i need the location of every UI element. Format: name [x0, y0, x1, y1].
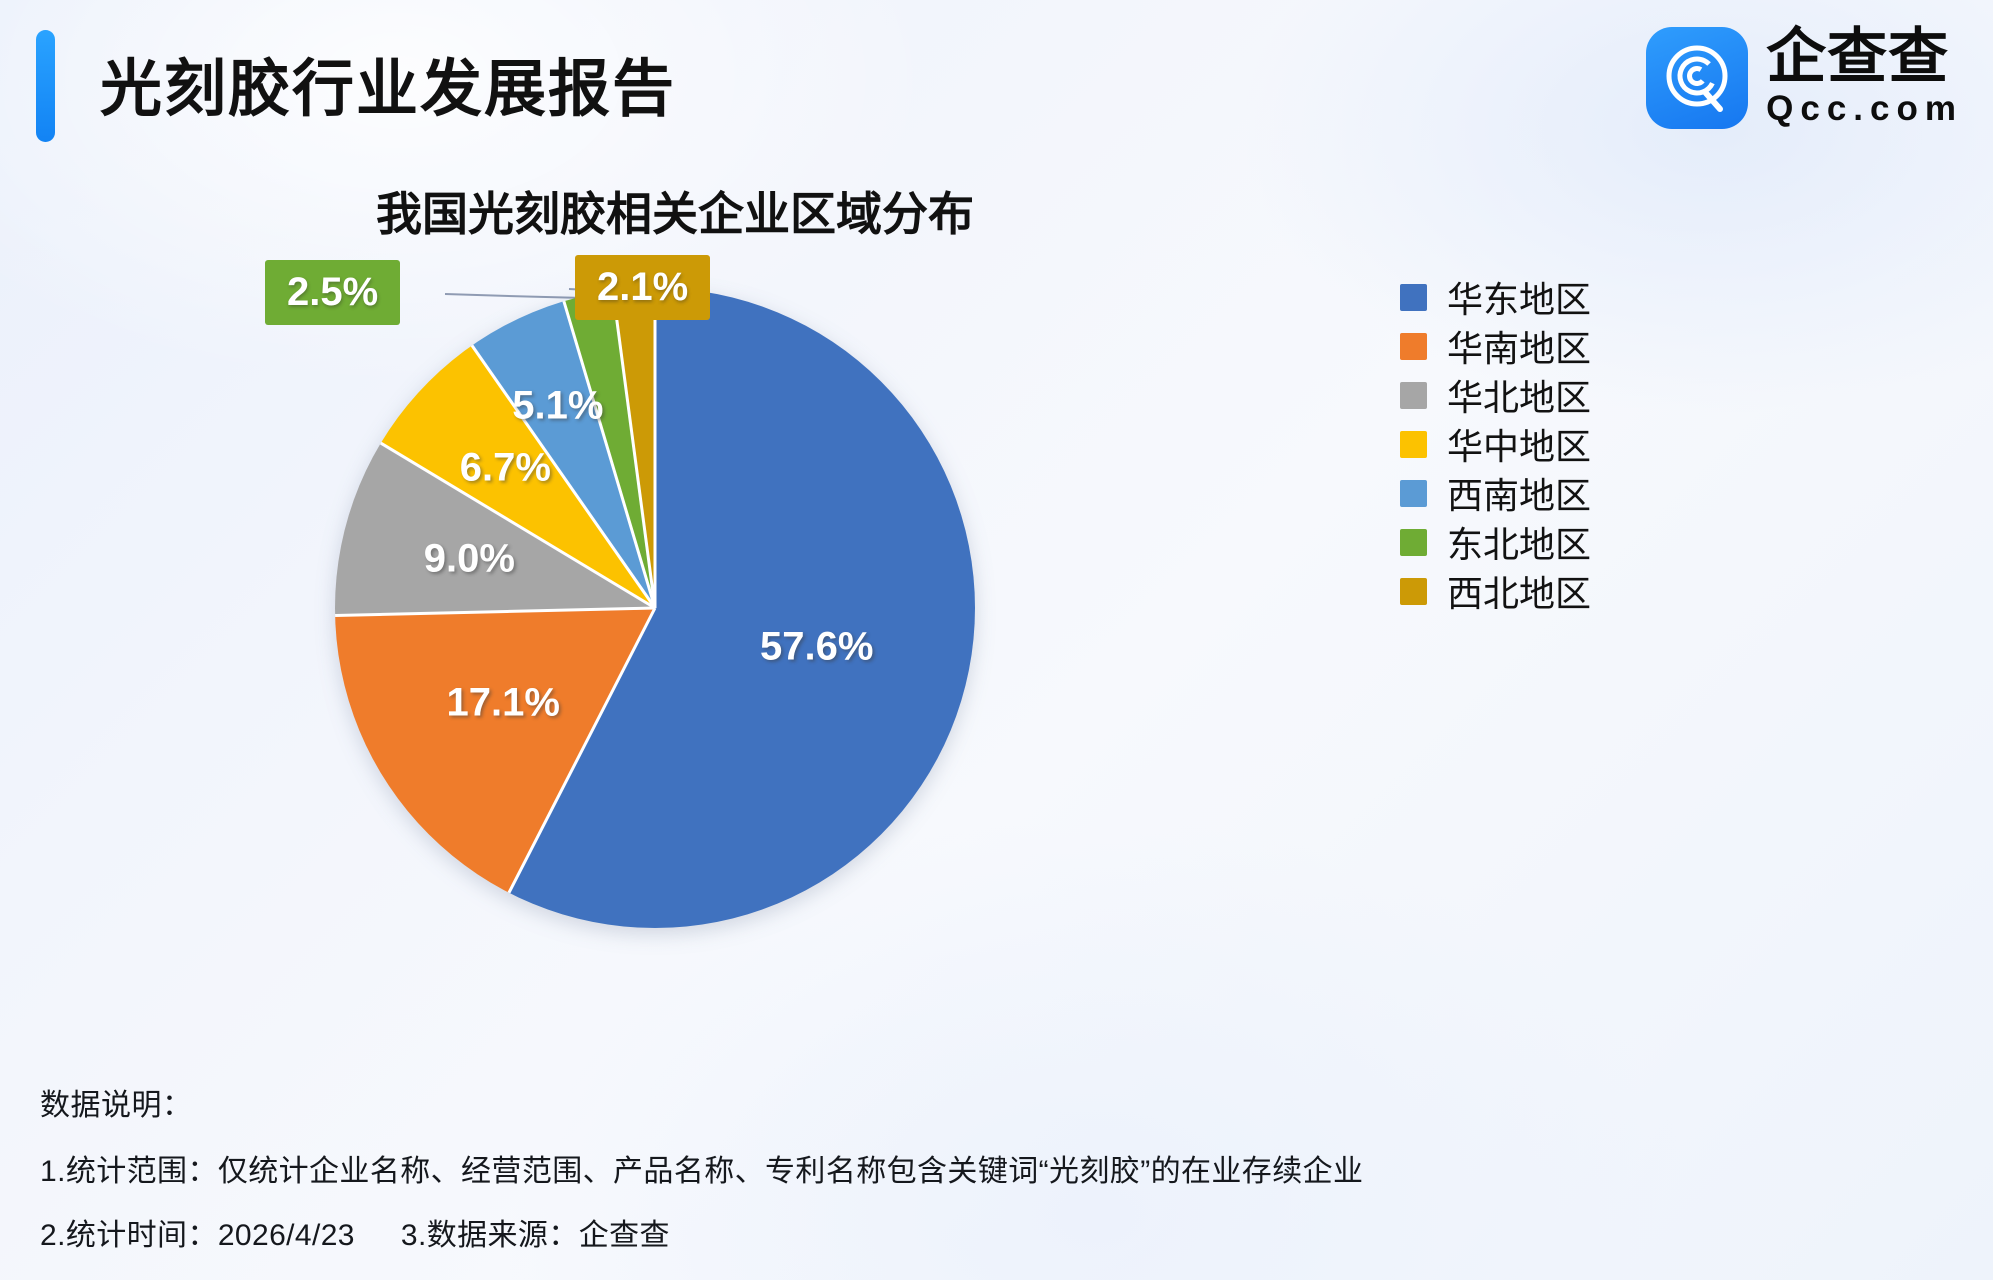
legend-item[interactable]: 华南地区 [1400, 327, 1591, 365]
legend-item[interactable]: 华北地区 [1400, 376, 1591, 414]
brand-logo: 企查查 Qcc.com [1646, 26, 1963, 129]
legend-item-label: 西南地区 [1447, 467, 1591, 519]
pie-slice-label: 57.6% [760, 625, 873, 670]
legend-item[interactable]: 西北地区 [1400, 572, 1591, 610]
qcc-logo-icon [1646, 27, 1748, 129]
page-header: 光刻胶行业发展报告 企查查 Qcc.com [0, 0, 1993, 170]
legend-item[interactable]: 东北地区 [1400, 523, 1591, 561]
pie-slice-label: 6.7% [460, 446, 551, 491]
legend-item-label: 西北地区 [1447, 565, 1591, 617]
brand-name-en: Qcc.com [1766, 89, 1963, 129]
legend-item-label: 东北地区 [1447, 516, 1591, 568]
pie-callout-label: 2.5% [265, 260, 400, 325]
pie-slice-divider [654, 288, 657, 608]
legend-item-label: 华北地区 [1447, 369, 1591, 421]
legend-item-label: 华南地区 [1447, 320, 1591, 372]
notes-line-time-source: 2.统计时间：2026/4/233.数据来源：企查查 [40, 1210, 1740, 1254]
pie-callout-label: 2.1% [575, 255, 710, 320]
notes-heading: 数据说明： [40, 1080, 1740, 1124]
chart-legend: 华东地区华南地区华北地区华中地区西南地区东北地区西北地区 [1400, 278, 1591, 610]
legend-item[interactable]: 华中地区 [1400, 425, 1591, 463]
legend-item-label: 华东地区 [1447, 271, 1591, 323]
legend-item[interactable]: 西南地区 [1400, 474, 1591, 512]
notes-stat-time: 2.统计时间：2026/4/23 [40, 1219, 355, 1252]
callout-leader-line [445, 294, 589, 298]
brand-name-cn: 企查查 [1766, 26, 1949, 87]
data-notes: 数据说明： 1.统计范围：仅统计企业名称、经营范围、产品名称、专利名称包含关键词… [40, 1080, 1740, 1254]
legend-swatch [1400, 529, 1427, 556]
callout-leader-lines [0, 250, 1993, 1050]
legend-swatch [1400, 431, 1427, 458]
brand-text: 企查查 Qcc.com [1766, 26, 1963, 129]
notes-source: 3.数据来源：企查查 [401, 1219, 670, 1252]
legend-item-label: 华中地区 [1447, 418, 1591, 470]
legend-swatch [1400, 284, 1427, 311]
pie-slice-label: 17.1% [446, 681, 559, 726]
pie-graphic [335, 288, 975, 928]
notes-line-scope: 1.统计范围：仅统计企业名称、经营范围、产品名称、专利名称包含关键词“光刻胶”的… [40, 1146, 1740, 1190]
title-accent-bar [36, 30, 55, 142]
legend-item[interactable]: 华东地区 [1400, 278, 1591, 316]
pie-slice-label: 5.1% [512, 384, 603, 429]
legend-swatch [1400, 480, 1427, 507]
pie-slice-label: 9.0% [424, 536, 515, 581]
legend-swatch [1400, 382, 1427, 409]
page-title: 光刻胶行业发展报告 [100, 38, 676, 128]
legend-swatch [1400, 333, 1427, 360]
pie-chart: 57.6%17.1%9.0%6.7%5.1% 2.5%2.1% [0, 250, 1993, 1050]
legend-swatch [1400, 578, 1427, 605]
chart-title: 我国光刻胶相关企业区域分布 [0, 178, 1350, 244]
